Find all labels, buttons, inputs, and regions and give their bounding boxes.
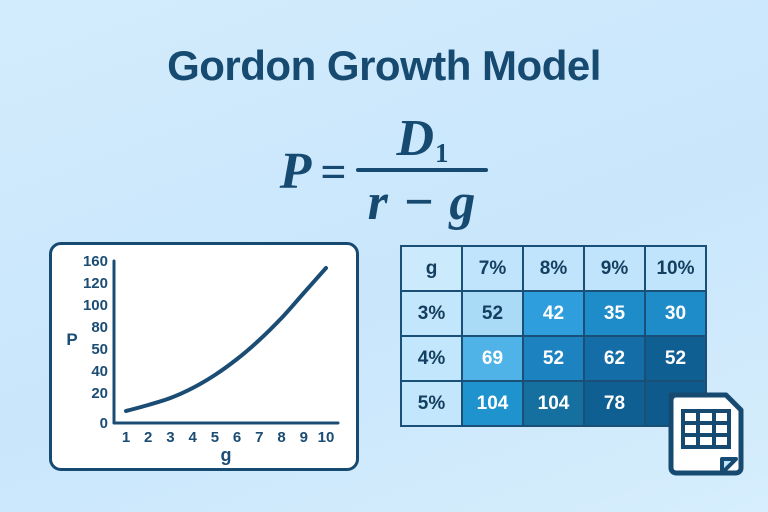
chart-x-tick: 9 xyxy=(300,429,308,446)
table-cell[interactable]: 104 xyxy=(462,381,523,426)
chart-x-tick: 3 xyxy=(166,429,174,446)
formula-equals: = xyxy=(320,149,355,195)
formula-numerator-symbol: D xyxy=(396,110,434,167)
sensitivity-table[interactable]: g 7% 8% 9% 10% 3%524235304%695262525%104… xyxy=(400,245,707,427)
svg-text:120: 120 xyxy=(83,275,108,292)
svg-text:50: 50 xyxy=(91,341,108,358)
table-col-header: 8% xyxy=(523,246,584,291)
chart-x-tick: 8 xyxy=(277,429,285,446)
formula-fraction: D1 r − g xyxy=(356,112,489,231)
chart-series-line xyxy=(126,268,326,411)
svg-text:0: 0 xyxy=(100,415,108,432)
table-row: 5%10410478 xyxy=(401,381,706,426)
chart-x-tick: 7 xyxy=(255,429,263,446)
chart-x-tick: 10 xyxy=(318,429,335,446)
table-header-row: g 7% 8% 9% 10% xyxy=(401,246,706,291)
table-row-header: 3% xyxy=(401,291,462,336)
chart-x-tick: 5 xyxy=(211,429,219,446)
table-body: 3%524235304%695262525%10410478 xyxy=(401,291,706,426)
svg-text:20: 20 xyxy=(91,385,108,402)
table-cell[interactable]: 52 xyxy=(462,291,523,336)
chart-y-axis-label: P xyxy=(66,330,77,349)
svg-text:80: 80 xyxy=(91,319,108,336)
formula-lhs: P xyxy=(280,146,321,198)
page-title: Gordon Growth Model xyxy=(0,42,768,90)
chart-x-tick: 4 xyxy=(189,429,198,446)
table-cell[interactable]: 69 xyxy=(462,336,523,381)
formula-numerator: D1 xyxy=(384,112,459,168)
chart-card: 160 120 100 80 50 40 20 0 P 12345678910 … xyxy=(49,242,359,471)
formula-numerator-subscript: 1 xyxy=(435,138,449,168)
chart-x-tick: 2 xyxy=(144,429,152,446)
formula-denominator: r − g xyxy=(356,172,489,231)
table-cell[interactable]: 42 xyxy=(523,291,584,336)
table-row-header: 4% xyxy=(401,336,462,381)
chart-x-tick: 1 xyxy=(122,429,130,446)
chart-x-axis-label: g xyxy=(221,445,232,465)
table-col-header: 9% xyxy=(584,246,645,291)
table-row: 4%69526252 xyxy=(401,336,706,381)
table-header: g 7% 8% 9% 10% xyxy=(401,246,706,291)
table-cell[interactable]: 52 xyxy=(523,336,584,381)
table-col-header: 10% xyxy=(645,246,706,291)
chart-x-tick-labels: 12345678910 xyxy=(122,429,335,446)
gordon-growth-formula: P = D1 r − g xyxy=(0,112,768,231)
table-cell[interactable]: 52 xyxy=(645,336,706,381)
table-cell[interactable]: 78 xyxy=(584,381,645,426)
table-col-header: 7% xyxy=(462,246,523,291)
spreadsheet-document-icon[interactable] xyxy=(666,389,746,481)
svg-text:40: 40 xyxy=(91,363,108,380)
svg-text:100: 100 xyxy=(83,297,108,314)
table-corner-cell: g xyxy=(401,246,462,291)
table-cell[interactable]: 35 xyxy=(584,291,645,336)
growth-curve-chart: 160 120 100 80 50 40 20 0 P 12345678910 … xyxy=(52,245,356,468)
table-cell[interactable]: 62 xyxy=(584,336,645,381)
table-row: 3%52423530 xyxy=(401,291,706,336)
table-cell[interactable]: 30 xyxy=(645,291,706,336)
infographic-canvas: Gordon Growth Model P = D1 r − g 160 120… xyxy=(0,0,768,512)
table-cell[interactable]: 104 xyxy=(523,381,584,426)
chart-y-tick-labels: 160 120 100 80 50 40 20 0 xyxy=(83,253,108,432)
table-row-header: 5% xyxy=(401,381,462,426)
svg-text:160: 160 xyxy=(83,253,108,270)
chart-x-tick: 6 xyxy=(233,429,241,446)
